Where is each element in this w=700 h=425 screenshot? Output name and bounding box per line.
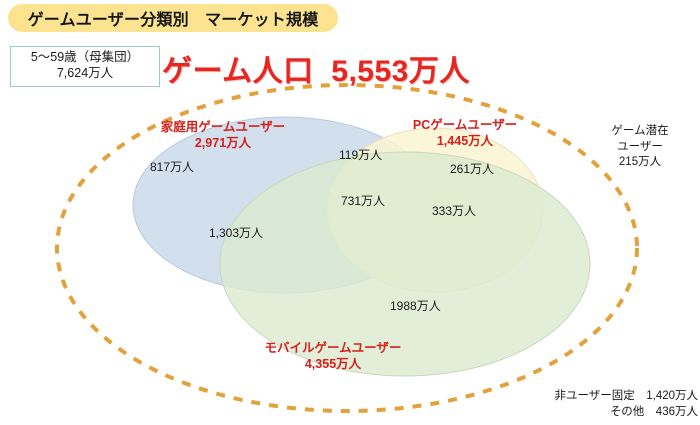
region-value-console-mobile: 1,303万人 (209, 224, 263, 241)
title-banner: ゲームユーザー分類別 マーケット規模 (8, 4, 338, 32)
page-title: ゲームユーザー分類別 マーケット規模 (28, 6, 319, 30)
population-range: 5〜59歳（母集団） (15, 50, 155, 66)
region-value-mobile-only: 1988万人 (390, 297, 441, 314)
region-value-pc-mobile: 333万人 (432, 202, 476, 219)
infographic-page: ゲームユーザー分類別 マーケット規模 5〜59歳（母集団） 7,624万人 ゲー… (0, 0, 700, 425)
mobile-set-label: モバイルゲームユーザー 4,355万人 (228, 340, 438, 373)
region-value-pc-only: 261万人 (450, 160, 494, 177)
console-set-label: 家庭用ゲームユーザー 2,971万人 (138, 119, 308, 152)
population-value: 7,624万人 (15, 66, 155, 82)
note-non-users: 非ユーザー固定 1,420万人 その他 436万人 (486, 389, 698, 420)
pc-set-label: PCゲームユーザー 1,445万人 (390, 117, 540, 150)
region-value-all-three: 731万人 (341, 192, 385, 209)
headline-total-gamers: ゲーム人口 5,553万人 (162, 46, 470, 90)
region-value-console-pc: 119万人 (339, 146, 382, 163)
population-box: 5〜59歳（母集団） 7,624万人 (10, 46, 160, 87)
note-potential-users: ゲーム潜在 ユーザー 215万人 (584, 124, 696, 171)
region-value-console-only: 817万人 (150, 158, 194, 175)
